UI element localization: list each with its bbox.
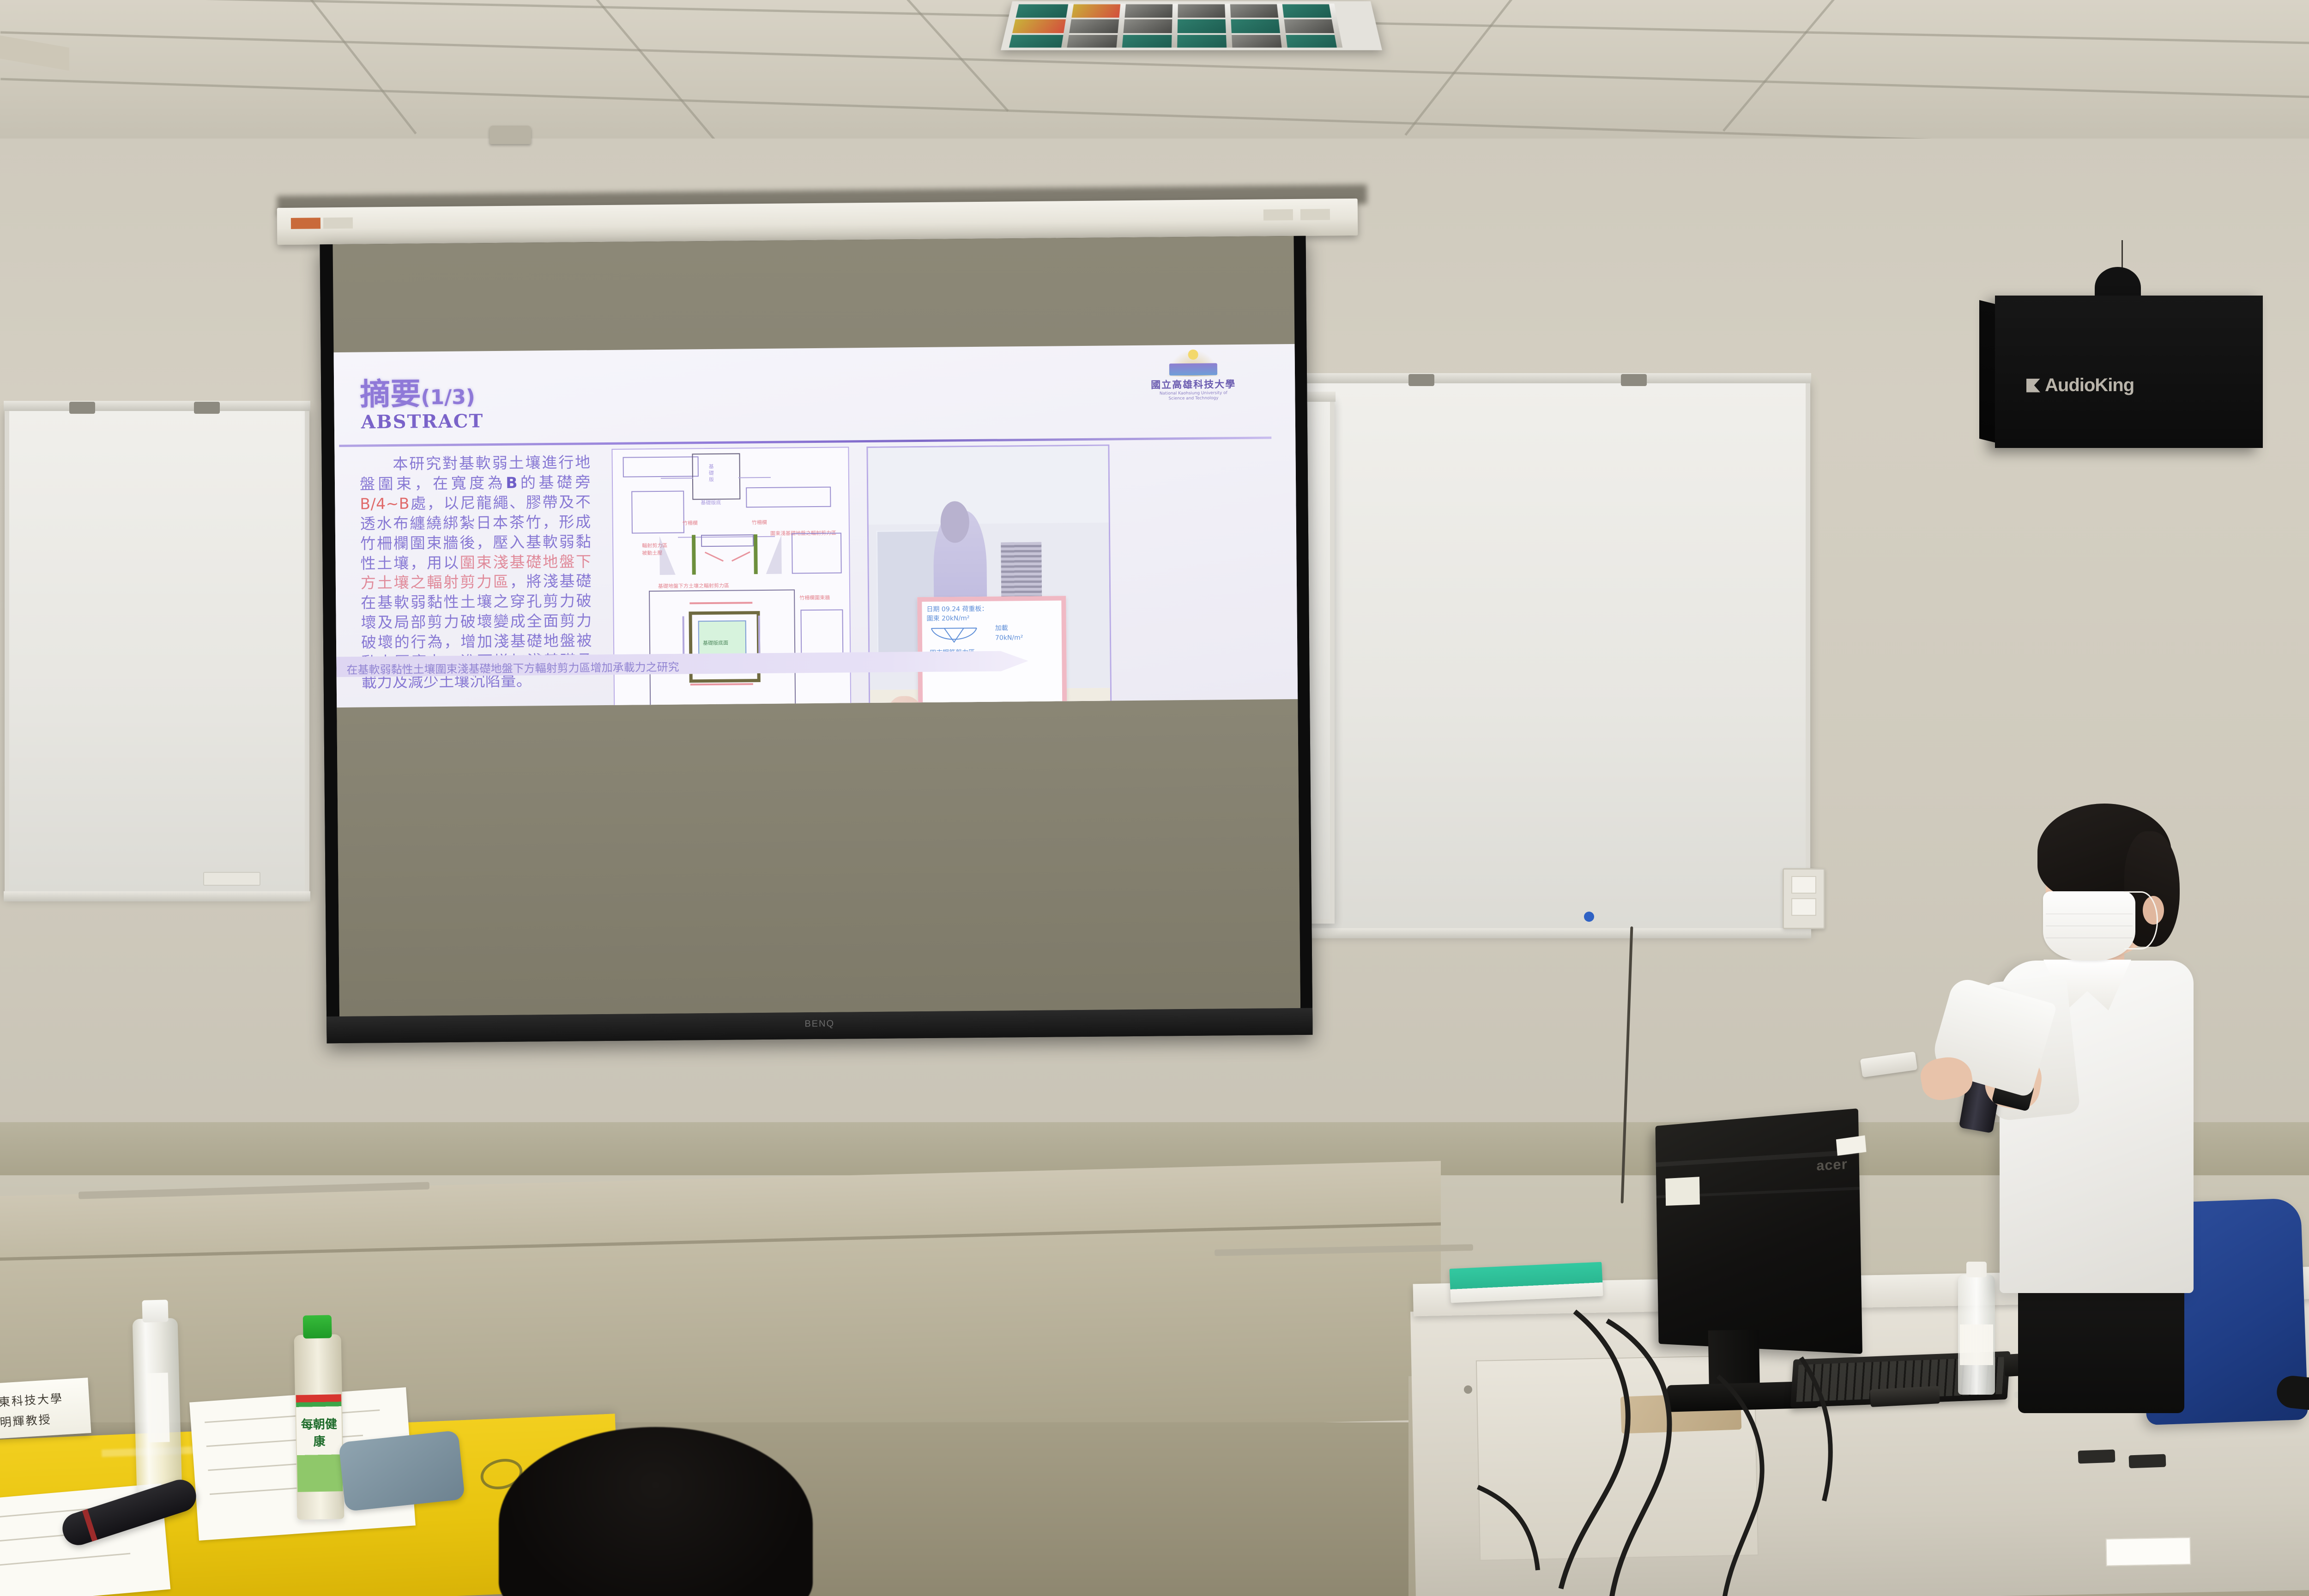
university-name-en-1: National Kaohsiung University of — [1147, 391, 1239, 397]
desk-cables — [1422, 1293, 2069, 1596]
body-seg-2: 的基礎旁 — [518, 473, 591, 491]
university-name-en-2: Science and Technology — [1147, 396, 1239, 402]
slide-title: 摘要(1/3) — [360, 369, 475, 414]
bottle-cap — [1966, 1262, 1987, 1277]
water-bottle-label — [147, 1372, 170, 1442]
tea-bottle-cap — [303, 1315, 332, 1338]
audioking-mark-icon — [2026, 379, 2040, 393]
face-mask-on-table[interactable] — [338, 1430, 465, 1511]
screen-canvas: 摘要(1/3) ABSTRACT 國立高雄科技大學 National Kaohs… — [332, 236, 1300, 1016]
slide-title-counter: (1/3) — [421, 386, 475, 410]
open-book-icon — [1166, 349, 1221, 376]
monitor-asset-sticker — [1665, 1177, 1700, 1206]
university-logo: 國立高雄科技大學 National Kaohsiung University o… — [1147, 349, 1240, 402]
whiteboard-line-0: 日期 09.24 荷重板： — [926, 604, 988, 614]
whiteboard-magnet[interactable] — [1584, 912, 1594, 922]
podium-asset-label — [2105, 1537, 2191, 1566]
face-mask — [2043, 891, 2135, 961]
ceiling-light-fixture — [1001, 1, 1382, 50]
tea-bottle[interactable]: 每朝健康 — [294, 1334, 345, 1520]
screen-unlit-area — [337, 699, 1300, 1016]
wall-speaker: AudioKing — [1995, 296, 2263, 448]
slide-footer-text: 在基軟弱黏性土壤圍束淺基礎地盤下方輻射剪力區增加承載力之研究 — [346, 658, 679, 677]
body-seg-3: B/4~B — [360, 495, 410, 513]
slide-subtitle-en: ABSTRACT — [361, 410, 484, 433]
body-seg-1: B — [506, 474, 518, 492]
placard-line-2: 李明輝教授 — [0, 1410, 52, 1431]
tea-bottle-label: 每朝健康 — [296, 1394, 343, 1492]
speaker-brand-text: AudioKing — [2045, 375, 2134, 396]
lecture-hall-scene: AudioKing 摘要(1/3) ABSTRACT — [0, 0, 2309, 1596]
speaker-wire — [2122, 240, 2123, 269]
right-whiteboard[interactable] — [1302, 379, 1810, 933]
presenter-clicker-desk-2[interactable] — [2129, 1454, 2166, 1469]
sun-icon — [1188, 350, 1198, 360]
plan-center-label: 基礎版底面 — [703, 640, 728, 647]
face-mask-ear-loop — [2124, 891, 2158, 949]
projection-screen[interactable]: 摘要(1/3) ABSTRACT 國立高雄科技大學 National Kaohs… — [320, 236, 1312, 1044]
water-bottle-cap — [142, 1300, 168, 1322]
whiteboard-line-3: 70kN/m² — [995, 634, 1023, 642]
tea-brand-text: 每朝健康 — [298, 1415, 340, 1450]
slide-divider-rule — [339, 436, 1271, 447]
sketch-icon — [929, 622, 980, 650]
projected-slide-area: 摘要(1/3) ABSTRACT 國立高雄科技大學 National Kaohs… — [334, 344, 1298, 707]
microphone-band — [82, 1509, 97, 1542]
slide-title-zh: 摘要 — [360, 376, 421, 412]
presenter-clicker-desk[interactable] — [2078, 1450, 2116, 1464]
whiteboard-eraser[interactable] — [203, 872, 260, 886]
placard-line-1: 屏東科技大學 — [0, 1389, 64, 1410]
wall-outlet-box[interactable] — [1783, 868, 1825, 929]
name-placard: 屏東科技大學 李明輝教授 — [0, 1378, 91, 1439]
university-name-zh: 國立高雄科技大學 — [1147, 377, 1239, 392]
left-whiteboard[interactable] — [5, 406, 309, 896]
speaker-brand-logo: AudioKing — [2026, 375, 2134, 396]
presentation-slide: 摘要(1/3) ABSTRACT 國立高雄科技大學 National Kaohs… — [334, 344, 1298, 707]
smoke-detector — [490, 126, 531, 144]
whiteboard-line-2: 加載 — [995, 623, 1008, 633]
screen-brand-label: BENQ — [804, 1019, 834, 1030]
monitor-brand-logo: acer — [1816, 1156, 1848, 1174]
